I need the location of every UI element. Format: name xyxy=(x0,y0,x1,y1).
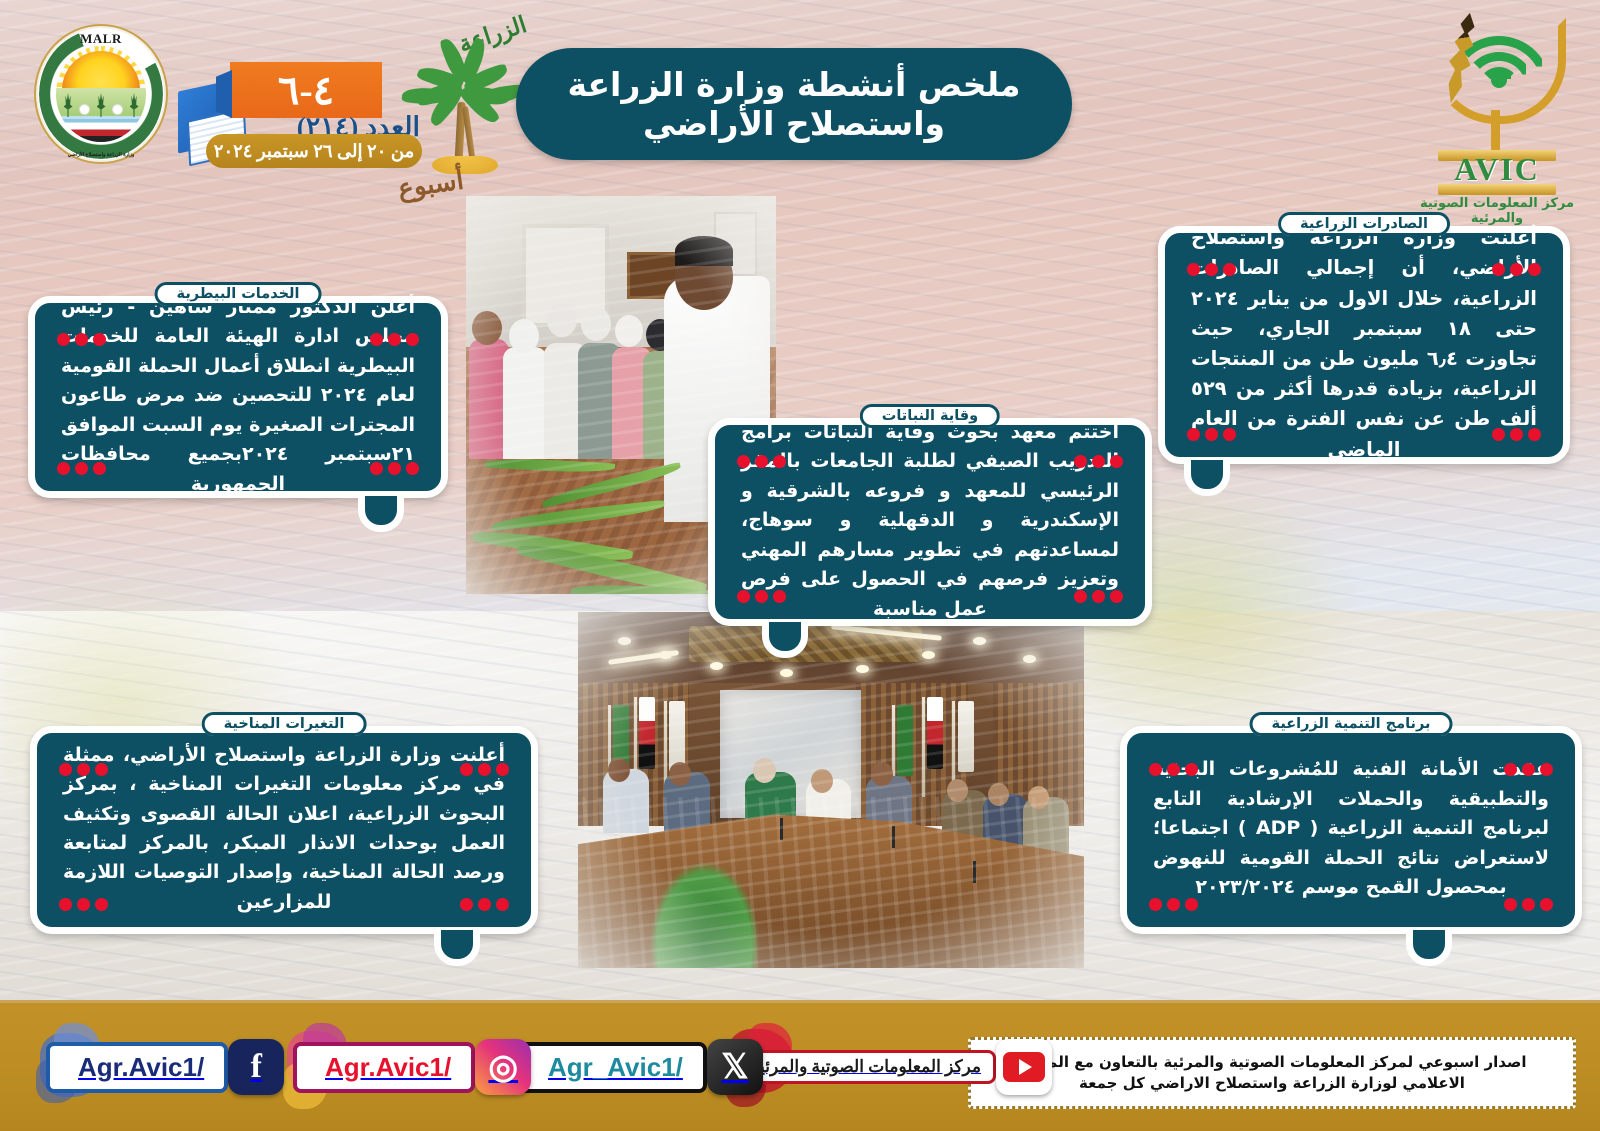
card-agricultural-development-program: برنامج التنمية الزراعية عقدت الأمانة الف… xyxy=(1120,712,1582,934)
logo-stem-shape xyxy=(1491,110,1500,154)
decor-dots-top-right xyxy=(370,333,419,346)
decor-dots-top-right xyxy=(460,763,509,776)
decor-dots-top-right xyxy=(1492,263,1541,276)
play-triangle-icon xyxy=(1003,1052,1045,1082)
decor-dots-top-left xyxy=(59,763,108,776)
footer-note: اصدار اسبوعي لمركز المعلومات الصوتية وال… xyxy=(968,1037,1576,1109)
malr-ministry-name-ar: وزارة الزراعة واستصلاح الأراضي xyxy=(34,152,168,158)
decor-dots-top-left xyxy=(1187,263,1236,276)
decor-dots-bottom-right xyxy=(1492,428,1541,441)
decor-dots-bottom-left xyxy=(57,462,106,475)
card-veterinary-services: الخدمات البيطرية أعلن الدكتور ممتاز شاهي… xyxy=(28,282,448,498)
card-body: أعلنت وزارة الزراعة واستصلاح الأراضي، مم… xyxy=(30,726,538,934)
page-title: ملخص أنشطة وزارة الزراعة واستصلاح الأراض… xyxy=(516,48,1072,160)
x-glyph: 𝕏 xyxy=(721,1047,748,1087)
decor-dots-top-left xyxy=(57,333,106,346)
card-climate-changes: التغيرات المناخية أعلنت وزارة الزراعة وا… xyxy=(30,712,538,934)
card-body: اختتم معهد بحوث وقاية النباتات برامج الت… xyxy=(708,418,1152,626)
photo-council-meeting xyxy=(578,612,1084,968)
card-tag-agricultural-development-program: برنامج التنمية الزراعية xyxy=(1250,712,1453,736)
decor-dots-bottom-right xyxy=(460,898,509,911)
instagram-handle-label: /Agr.Avic1 xyxy=(293,1042,475,1093)
card-tag-agricultural-exports: الصادرات الزراعية xyxy=(1278,212,1450,236)
card-text-plant-protection: اختتم معهد بحوث وقاية النباتات برامج الت… xyxy=(741,418,1119,624)
instagram-glyph: ◎ xyxy=(488,1047,518,1087)
facebook-handle-label: /Agr.Avic1 xyxy=(46,1042,228,1093)
decor-dots-top-left xyxy=(1149,763,1198,776)
photo-content xyxy=(578,612,1084,968)
card-text-agricultural-development-program: عقدت الأمانة الفنية للمُشروعات البحثية و… xyxy=(1153,755,1549,902)
logo-emblem xyxy=(56,46,146,142)
x-icon: 𝕏 xyxy=(707,1039,763,1095)
decor-dots-bottom-right xyxy=(1504,898,1553,911)
decor-dots-top-right xyxy=(1074,455,1123,468)
crops-icon-group xyxy=(56,88,146,117)
avic-logo: AVIC مركز المعلومات الصوتية والمرئية xyxy=(1392,6,1600,196)
decor-dots-bottom-left xyxy=(737,590,786,603)
card-body: عقدت الأمانة الفنية للمُشروعات البحثية و… xyxy=(1120,726,1582,934)
footer-bar: f /Agr.Avic1 ◎ /Agr.Avic1 𝕏 /Agr_Avic1 م… xyxy=(0,1000,1600,1131)
card-body: أعلنت وزارة الزراعة واستصلاح الأراضي، أن… xyxy=(1158,226,1570,464)
card-text-climate-changes: أعلنت وزارة الزراعة واستصلاح الأراضي، مم… xyxy=(63,741,505,918)
crop-icon xyxy=(64,93,73,117)
agriculture-week-emblem: الزراعة أسبوع xyxy=(392,18,532,196)
cotton-icon xyxy=(80,105,89,114)
decor-dots-bottom-right xyxy=(370,462,419,475)
malr-ministry-logo: MALR وزارة الزراعة واستصلاح الأراضي xyxy=(34,24,168,164)
cotton-icon xyxy=(113,105,122,114)
social-link-facebook[interactable]: f /Agr.Avic1 xyxy=(58,1039,284,1095)
card-plant-protection: وقاية النباتات اختتم معهد بحوث وقاية الن… xyxy=(708,404,1152,626)
decor-dots-top-left xyxy=(737,455,786,468)
decor-dots-bottom-left xyxy=(1149,898,1198,911)
malr-abbr-label: MALR xyxy=(34,31,168,47)
facebook-icon: f xyxy=(228,1039,284,1095)
x-handle-label: /Agr_Avic1 xyxy=(516,1042,707,1093)
decor-dots-bottom-left xyxy=(59,898,108,911)
card-tag-veterinary-services: الخدمات البيطرية xyxy=(155,282,322,306)
decor-dots-top-right xyxy=(1504,763,1553,776)
crop-icon xyxy=(97,93,106,117)
avic-name-label: AVIC xyxy=(1438,152,1556,186)
issue-badge: ٤-٦ العدد (٢١٤) من ٢٠ إلى ٢٦ سبتمبر ٢٠٢٤ xyxy=(176,62,426,168)
youtube-handle-label: مركز المعلومات الصوتية والمرئية xyxy=(736,1050,996,1084)
card-body: أعلن الدكتور ممتاز شاهين - رئيس مجلس ادا… xyxy=(28,296,448,498)
decor-dots-bottom-left xyxy=(1187,428,1236,441)
card-text-agricultural-exports: أعلنت وزارة الزراعة واستصلاح الأراضي، أن… xyxy=(1191,223,1537,465)
issue-date-range-label: من ٢٠ إلى ٢٦ سبتمبر ٢٠٢٤ xyxy=(206,134,422,168)
social-link-instagram[interactable]: ◎ /Agr.Avic1 xyxy=(305,1039,531,1095)
card-tag-plant-protection: وقاية النباتات xyxy=(860,404,1000,428)
youtube-icon xyxy=(996,1039,1052,1095)
instagram-icon: ◎ xyxy=(475,1039,531,1095)
crop-icon xyxy=(130,93,139,117)
card-tag-climate-changes: التغيرات المناخية xyxy=(202,712,367,736)
social-link-youtube[interactable]: مركز المعلومات الصوتية والمرئية xyxy=(748,1039,1052,1095)
agri-week-top-label: الزراعة xyxy=(456,12,530,58)
card-text-veterinary-services: أعلن الدكتور ممتاز شاهين - رئيس مجلس ادا… xyxy=(61,293,415,499)
social-link-x[interactable]: 𝕏 /Agr_Avic1 xyxy=(528,1039,763,1095)
issue-pages-banner: ٤-٦ xyxy=(230,62,382,118)
issue-pages-label: ٤-٦ xyxy=(278,67,334,114)
decor-dots-bottom-right xyxy=(1074,590,1123,603)
facebook-glyph: f xyxy=(251,1048,262,1086)
card-agricultural-exports: الصادرات الزراعية أعلنت وزارة الزراعة وا… xyxy=(1158,212,1570,464)
